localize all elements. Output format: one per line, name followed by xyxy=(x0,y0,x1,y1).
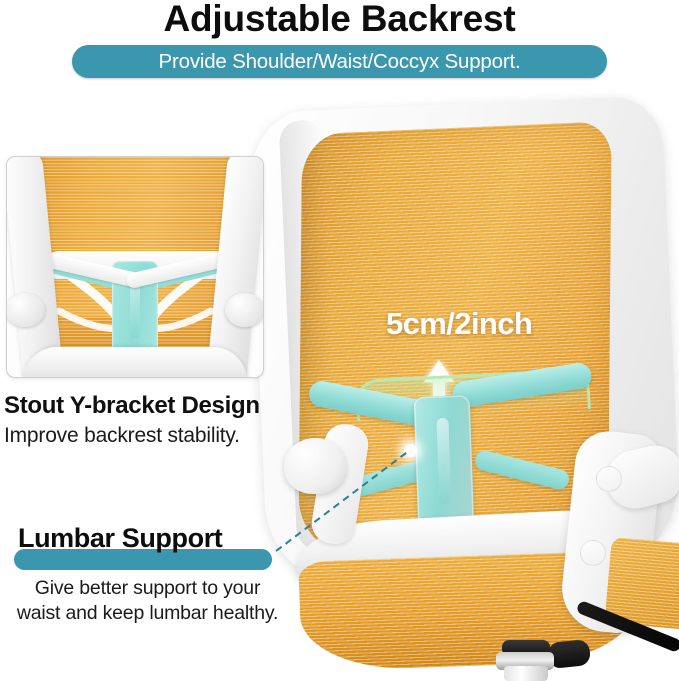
screw-cap-icon xyxy=(596,466,622,492)
callout-lumbar-description-line2: waist and keep lumbar healthy. xyxy=(0,601,295,626)
inset-scene xyxy=(7,157,263,377)
y-bracket-detail-panel xyxy=(6,156,264,378)
inset-pivot-knob-right xyxy=(225,293,264,327)
lumbar-highlight-point xyxy=(404,444,417,457)
infographic-canvas: Adjustable Backrest Provide Shoulder/Wai… xyxy=(0,0,679,681)
callout-y-bracket-title: Stout Y-bracket Design xyxy=(4,392,260,420)
inset-seat-lip xyxy=(23,347,247,378)
screw-cap-icon xyxy=(580,540,606,566)
dimension-label: 5cm/2inch xyxy=(386,306,532,342)
callout-lumbar-description: Give better support to your waist and ke… xyxy=(0,576,295,626)
callout-lumbar-description-line1: Give better support to your xyxy=(0,576,295,601)
callout-y-bracket-description: Improve backrest stability. xyxy=(4,424,240,448)
lumbar-center-stem xyxy=(414,395,475,533)
inset-pivot-knob-left xyxy=(6,293,45,327)
gas-cylinder-body xyxy=(504,666,548,681)
backrest-pivot-knob xyxy=(284,438,346,494)
callout-lumbar-title: Lumbar Support xyxy=(18,523,222,554)
